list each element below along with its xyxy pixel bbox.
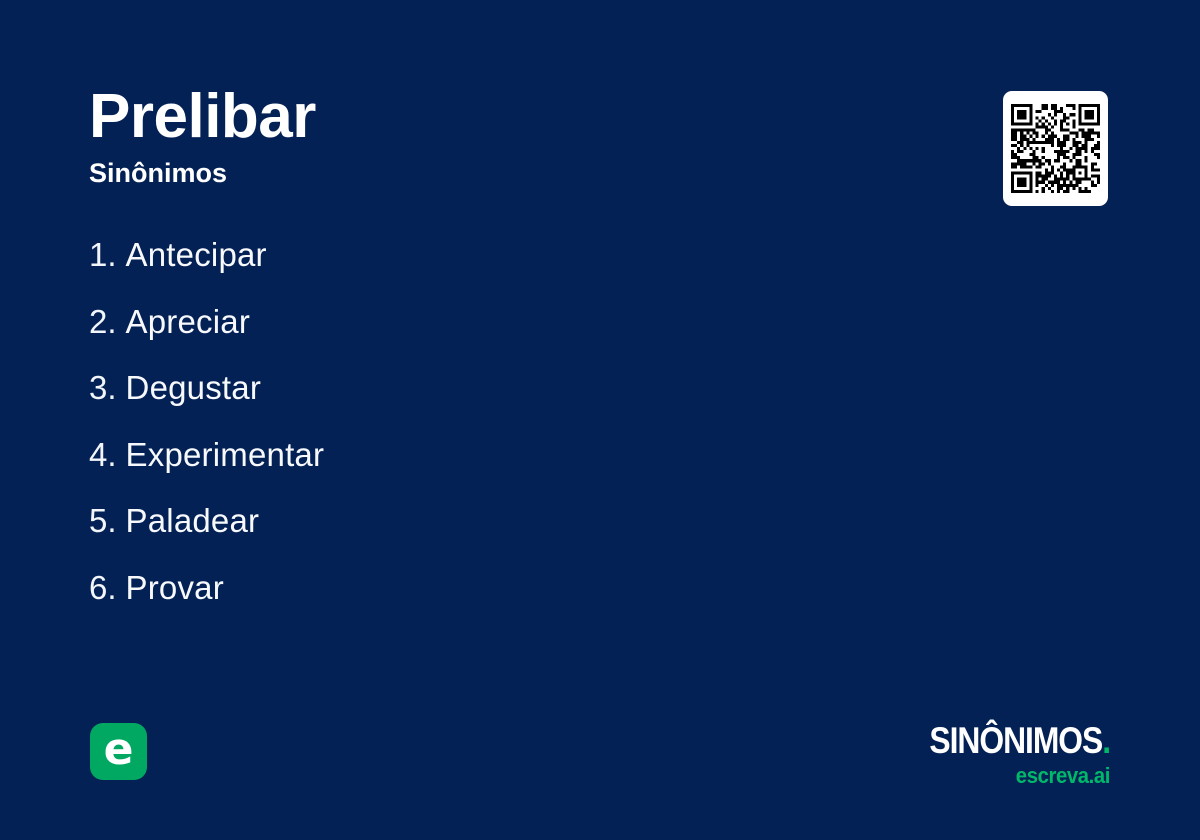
qr-code-icon[interactable]: [1011, 104, 1100, 193]
brand-name: SINÔNIMOS.: [929, 722, 1110, 759]
list-item: 4. Experimentar: [89, 436, 324, 503]
escreva-e-logo-icon[interactable]: e: [90, 723, 147, 780]
section-label: Sinônimos: [89, 159, 316, 189]
brand-dot: .: [1102, 720, 1110, 761]
list-item-index: 3.: [89, 369, 117, 407]
list-item-label: Provar: [126, 569, 224, 607]
list-item: 6. Provar: [89, 569, 324, 636]
list-item-index: 2.: [89, 303, 117, 341]
brand-name-text: SINÔNIMOS: [929, 720, 1102, 761]
brand-lockup: SINÔNIMOS. escreva.ai: [900, 722, 1110, 787]
list-item: 5. Paladear: [89, 502, 324, 569]
list-item-label: Apreciar: [126, 303, 250, 341]
e-badge-letter: e: [104, 728, 134, 772]
synonym-list: 1. Antecipar 2. Apreciar 3. Degustar 4. …: [89, 236, 324, 635]
list-item: 2. Apreciar: [89, 303, 324, 370]
list-item: 3. Degustar: [89, 369, 324, 436]
list-item-index: 1.: [89, 236, 117, 274]
list-item-index: 4.: [89, 436, 117, 474]
list-item-label: Paladear: [126, 502, 260, 540]
brand-tagline: escreva.ai: [917, 765, 1110, 787]
list-item-index: 6.: [89, 569, 117, 607]
list-item-index: 5.: [89, 502, 117, 540]
list-item-label: Degustar: [126, 369, 262, 407]
header: Prelibar Sinônimos: [89, 84, 316, 189]
page-title: Prelibar: [89, 84, 316, 149]
list-item-label: Experimentar: [126, 436, 325, 474]
synonym-card: Prelibar Sinônimos 1. Antecipar 2. Aprec…: [0, 0, 1200, 840]
qr-code-card[interactable]: [1003, 91, 1108, 206]
list-item: 1. Antecipar: [89, 236, 324, 303]
list-item-label: Antecipar: [126, 236, 267, 274]
